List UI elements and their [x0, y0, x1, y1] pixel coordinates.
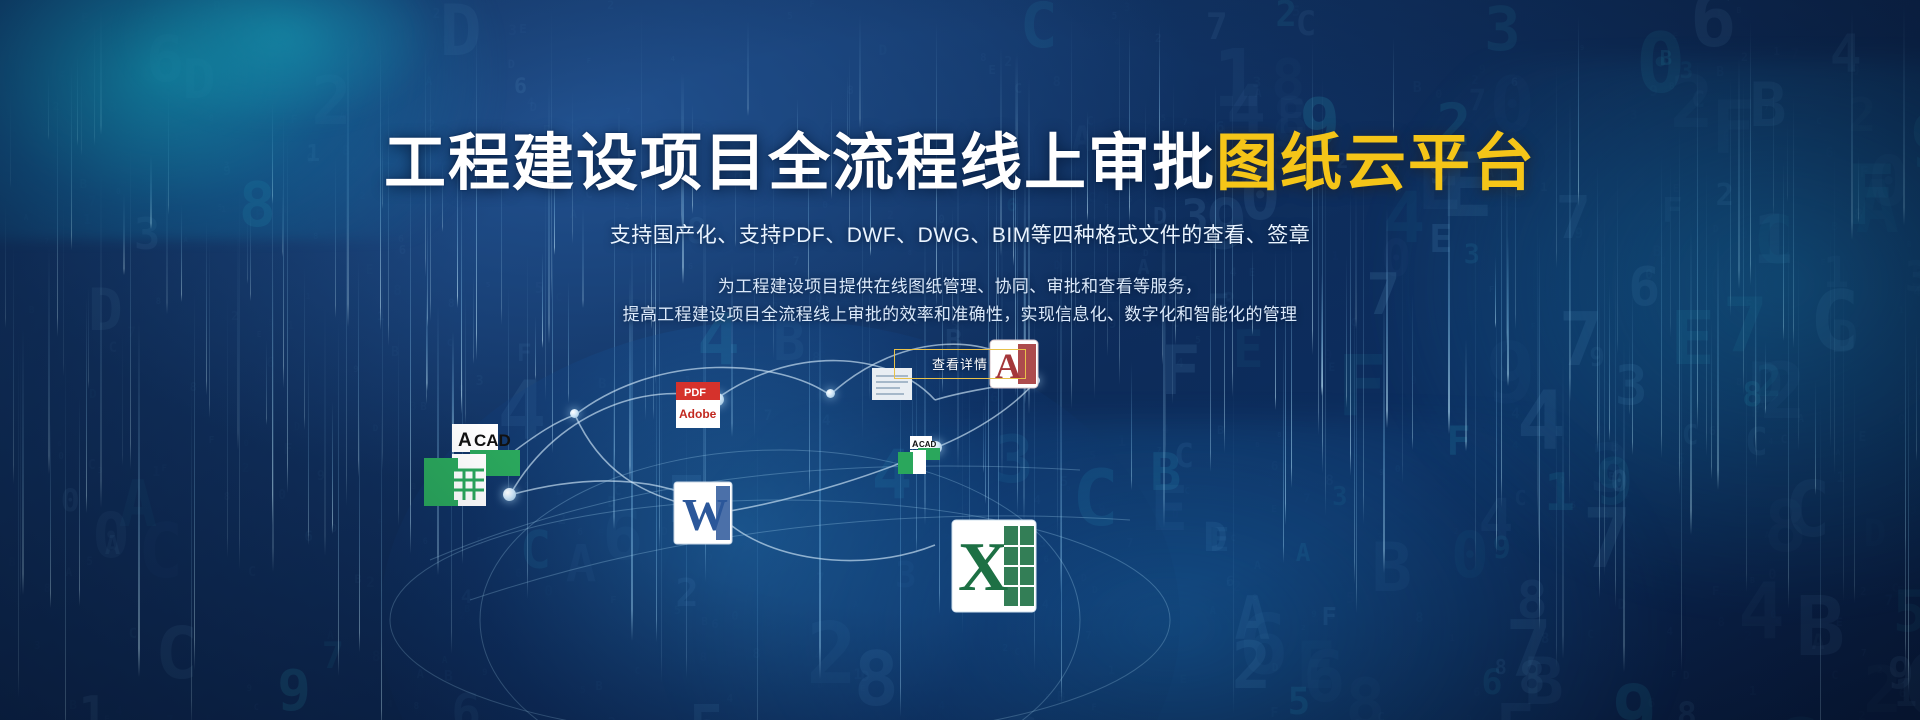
page-title-highlight: 图纸云平台 — [1216, 129, 1536, 198]
page-description: 为工程建设项目提供在线图纸管理、协同、审批和查看等服务， 提高工程建设项目全流程… — [360, 249, 1560, 329]
hero-content: 工程建设项目全流程线上审批图纸云平台 支持国产化、支持PDF、DWF、DWG、B… — [0, 0, 1920, 379]
description-line-1: 为工程建设项目提供在线图纸管理、协同、审批和查看等服务， — [360, 273, 1560, 301]
description-line-2: 提高工程建设项目全流程线上审批的效率和准确性，实现信息化、数字化和智能化的管理 — [360, 301, 1560, 329]
hero-banner: 03BEFD0743BC71C20989FC761AAE44EDA5414CD8… — [0, 0, 1920, 720]
cta-container: 查看详情 — [0, 329, 1920, 379]
view-details-button[interactable]: 查看详情 — [894, 349, 1026, 379]
page-title-main: 工程建设项目全流程线上审批 — [384, 129, 1216, 198]
page-subtitle: 支持国产化、支持PDF、DWF、DWG、BIM等四种格式文件的查看、签章 — [0, 195, 1920, 249]
page-title: 工程建设项目全流程线上审批图纸云平台 — [0, 0, 1920, 195]
